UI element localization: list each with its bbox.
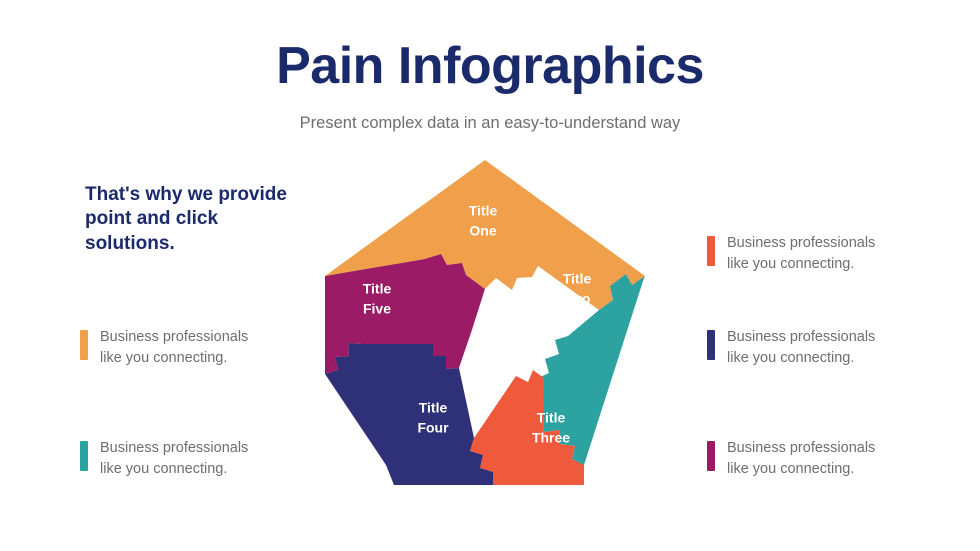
pentagon-segment-one-label-line1: Title xyxy=(469,203,498,219)
list-item: Business professionals like you connecti… xyxy=(707,327,912,368)
pentagon-segment-three-label-line1: Title xyxy=(537,410,566,426)
bullet-bar-icon xyxy=(707,330,715,360)
list-item: Business professionals like you connecti… xyxy=(80,327,285,368)
bullet-bar-icon xyxy=(80,441,88,471)
list-item-text: Business professionals like you connecti… xyxy=(727,438,875,479)
list-item-text: Business professionals like you connecti… xyxy=(100,438,248,479)
pentagon-segment-three-label-line2: Three xyxy=(532,430,570,446)
pentagon-segment-four-label-line1: Title xyxy=(419,400,448,416)
pentagon-segment-two-label-line1: Title xyxy=(563,271,592,287)
list-item: Business professionals like you connecti… xyxy=(80,438,285,479)
page-subtitle: Present complex data in an easy-to-under… xyxy=(0,114,980,134)
bullet-bar-icon xyxy=(707,441,715,471)
pentagon-segment-one-label-line2: One xyxy=(469,223,496,239)
pentagon-diagram: Title One Title Two Title Three Title Fo… xyxy=(300,150,670,495)
bullet-bar-icon xyxy=(707,236,715,266)
pentagon-segment-five-label-line2: Five xyxy=(363,301,391,317)
pentagon-segment-two-label-line2: Two xyxy=(564,291,591,307)
pentagon-segment-five-label-line1: Title xyxy=(363,281,392,297)
slide-canvas: Pain Infographics Present complex data i… xyxy=(0,0,980,551)
list-item-text: Business professionals like you connecti… xyxy=(100,327,248,368)
bullet-bar-icon xyxy=(80,330,88,360)
list-item: Business professionals like you connecti… xyxy=(707,233,912,274)
list-item: Business professionals like you connecti… xyxy=(707,438,912,479)
list-item-text: Business professionals like you connecti… xyxy=(727,327,875,368)
lead-statement: That's why we provide point and click so… xyxy=(85,183,300,256)
list-item-text: Business professionals like you connecti… xyxy=(727,233,875,274)
page-title: Pain Infographics xyxy=(0,38,980,95)
pentagon-diagram-svg: Title One Title Two Title Three Title Fo… xyxy=(300,150,670,495)
pentagon-segment-four-label-line2: Four xyxy=(417,420,449,436)
